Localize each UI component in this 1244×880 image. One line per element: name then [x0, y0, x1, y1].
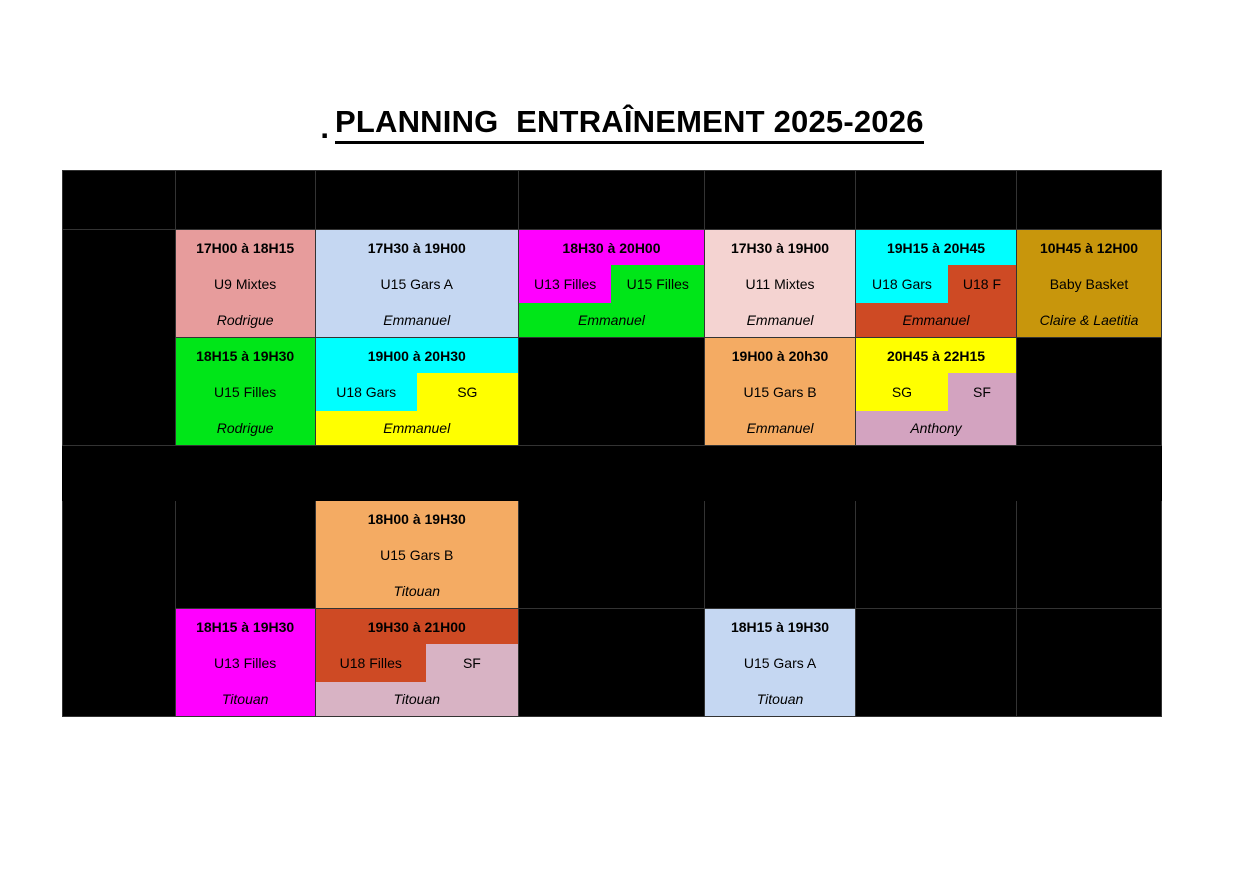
cell-guerche-row1-samedi-session: 10H45 à 12H00Baby BasketClaire & Laetiti…: [1017, 230, 1161, 337]
cell-guerche-row1-mercredi-session: 18H30 à 20H00U13 FillesU15 FillesEmmanue…: [519, 230, 704, 337]
cell-guerche-row1-mercredi-time: 18H30 à 20H00: [519, 230, 704, 265]
cell-domalain-row2-lundi-groups: U13 Filles: [176, 644, 315, 682]
cell-domalain-row2-jeudi-coach: Titouan: [705, 682, 855, 716]
cell-guerche-row1-vendredi-group-0[interactable]: U18 Gars: [856, 265, 948, 303]
table-row: 18H15 à 19H30U15 FillesRodrigue 19H00 à …: [63, 338, 1162, 446]
cell-guerche-row2-mardi-groups: U18 GarsSG: [316, 373, 518, 411]
header-day-samedi: SAMEDI: [1017, 171, 1162, 230]
header-day-jeudi: JEUDI: [705, 171, 856, 230]
cell-guerche-row2-mardi-coach: Emmanuel: [316, 411, 518, 445]
cell-guerche-row1-mardi-coach: Emmanuel: [316, 303, 518, 337]
cell-guerche-row2-vendredi-group-1[interactable]: SF: [948, 373, 1016, 411]
cell-guerche-row2-jeudi-coach: Emmanuel: [705, 411, 855, 445]
cell-domalain-row1-mardi-time: 18H00 à 19H30: [316, 501, 518, 536]
cell-domalain-row2-mardi[interactable]: 19H30 à 21H00U18 FillesSFTitouan: [315, 609, 518, 717]
cell-domalain-row2-mercredi: [518, 609, 704, 717]
cell-guerche-row1-mercredi[interactable]: 18H30 à 20H00U13 FillesU15 FillesEmmanue…: [518, 230, 704, 338]
cell-domalain-row2-lundi-group-0[interactable]: U13 Filles: [176, 644, 315, 682]
cell-guerche-row2-mardi-time: 19H00 à 20H30: [316, 338, 518, 373]
table-row: DOMALAIN 18H00 à 19H30U15 Gars BTitouan: [63, 501, 1162, 609]
cell-guerche-row1-mardi[interactable]: 17H30 à 19H00U15 Gars AEmmanuel: [315, 230, 518, 338]
cell-domalain-row1-lundi: [175, 501, 315, 609]
cell-guerche-row1-samedi-group-0[interactable]: Baby Basket: [1017, 265, 1161, 303]
cell-guerche-row1-jeudi[interactable]: 17H30 à 19H00U11 MixtesEmmanuel: [705, 230, 856, 338]
cell-guerche-row2-samedi: [1017, 338, 1162, 446]
cell-guerche-row2-lundi-session: 18H15 à 19H30U15 FillesRodrigue: [176, 338, 315, 445]
spacer-vendredi: [856, 446, 1017, 501]
cell-guerche-row1-mercredi-group-1[interactable]: U15 Filles: [611, 265, 704, 303]
cell-domalain-row2-mardi-group-0[interactable]: U18 Filles: [316, 644, 426, 682]
cell-guerche-row2-vendredi[interactable]: 20H45 à 22H15SGSFAnthony: [856, 338, 1017, 446]
cell-domalain-row2-mardi-group-1[interactable]: SF: [426, 644, 518, 682]
cell-domalain-row2-jeudi-time: 18H15 à 19H30: [705, 609, 855, 644]
cell-guerche-row1-lundi-groups: U9 Mixtes: [176, 265, 315, 303]
table-header-row: LUNDI MARDI MERCREDI JEUDI VENDREDI SAME…: [63, 171, 1162, 230]
cell-guerche-row1-mercredi-group-0[interactable]: U13 Filles: [519, 265, 612, 303]
section-spacer-row: [63, 446, 1162, 501]
spacer-mardi: [315, 446, 518, 501]
cell-guerche-row1-samedi-groups: Baby Basket: [1017, 265, 1161, 303]
spacer-mercredi: [518, 446, 704, 501]
header-corner: [63, 171, 176, 230]
cell-guerche-row1-mercredi-groups: U13 FillesU15 Filles: [519, 265, 704, 303]
cell-domalain-row2-jeudi[interactable]: 18H15 à 19H30U15 Gars ATitouan: [705, 609, 856, 717]
cell-guerche-row1-lundi-time: 17H00 à 18H15: [176, 230, 315, 265]
header-day-vendredi: VENDREDI: [856, 171, 1017, 230]
cell-domalain-row2-vendredi: [856, 609, 1017, 717]
cell-domalain-row1-mercredi: [518, 501, 704, 609]
cell-guerche-row1-jeudi-group-0[interactable]: U11 Mixtes: [705, 265, 855, 303]
cell-domalain-row2-lundi-coach: Titouan: [176, 682, 315, 716]
cell-domalain-row1-jeudi: [705, 501, 856, 609]
cell-guerche-row2-jeudi-groups: U15 Gars B: [705, 373, 855, 411]
title-bullet: .: [320, 110, 329, 146]
cell-guerche-row1-mardi-time: 17H30 à 19H00: [316, 230, 518, 265]
cell-guerche-row1-mardi-groups: U15 Gars A: [316, 265, 518, 303]
cell-guerche-row1-jeudi-groups: U11 Mixtes: [705, 265, 855, 303]
cell-guerche-row1-vendredi-groups: U18 GarsU18 F: [856, 265, 1016, 303]
venue-label-la-guerche: LA GUERCHE: [63, 230, 176, 446]
cell-guerche-row1-mardi-session: 17H30 à 19H00U15 Gars AEmmanuel: [316, 230, 518, 337]
cell-guerche-row2-mardi-group-1[interactable]: SG: [417, 373, 518, 411]
cell-guerche-row2-vendredi-session: 20H45 à 22H15SGSFAnthony: [856, 338, 1016, 445]
cell-guerche-row1-vendredi[interactable]: 19H15 à 20H45U18 GarsU18 FEmmanuel: [856, 230, 1017, 338]
cell-guerche-row1-jeudi-session: 17H30 à 19H00U11 MixtesEmmanuel: [705, 230, 855, 337]
cell-domalain-row2-jeudi-group-0[interactable]: U15 Gars A: [705, 644, 855, 682]
cell-guerche-row2-mercredi: [518, 338, 704, 446]
cell-guerche-row1-vendredi-time: 19H15 à 20H45: [856, 230, 1016, 265]
cell-guerche-row1-samedi-time: 10H45 à 12H00: [1017, 230, 1161, 265]
cell-domalain-row2-samedi: [1017, 609, 1162, 717]
cell-guerche-row2-mardi-session: 19H00 à 20H30U18 GarsSGEmmanuel: [316, 338, 518, 445]
cell-guerche-row2-vendredi-time: 20H45 à 22H15: [856, 338, 1016, 373]
cell-guerche-row1-vendredi-coach: Emmanuel: [856, 303, 1016, 337]
cell-guerche-row2-lundi[interactable]: 18H15 à 19H30U15 FillesRodrigue: [175, 338, 315, 446]
cell-guerche-row2-mardi-group-0[interactable]: U18 Gars: [316, 373, 417, 411]
header-day-lundi: LUNDI: [175, 171, 315, 230]
cell-guerche-row1-samedi[interactable]: 10H45 à 12H00Baby BasketClaire & Laetiti…: [1017, 230, 1162, 338]
cell-guerche-row2-jeudi-time: 19H00 à 20h30: [705, 338, 855, 373]
cell-guerche-row1-lundi-group-0[interactable]: U9 Mixtes: [176, 265, 315, 303]
venue-line-2: GUERCHE: [82, 339, 157, 355]
cell-guerche-row2-lundi-time: 18H15 à 19H30: [176, 338, 315, 373]
cell-domalain-row1-mardi-group-0[interactable]: U15 Gars B: [316, 536, 518, 574]
cell-guerche-row2-lundi-groups: U15 Filles: [176, 373, 315, 411]
cell-guerche-row1-jeudi-coach: Emmanuel: [705, 303, 855, 337]
cell-guerche-row2-vendredi-coach: Anthony: [856, 411, 1016, 445]
spacer-samedi: [1017, 446, 1162, 501]
venue-line-1: LA: [109, 319, 129, 335]
planning-page: .PLANNING ENTRAÎNEMENT 2025-2026 LUNDI M…: [0, 0, 1244, 880]
cell-guerche-row1-mardi-group-0[interactable]: U15 Gars A: [316, 265, 518, 303]
cell-guerche-row2-vendredi-group-0[interactable]: SG: [856, 373, 948, 411]
cell-domalain-row1-samedi: [1017, 501, 1162, 609]
cell-guerche-row1-mercredi-coach: Emmanuel: [519, 303, 704, 337]
title-text: PLANNING ENTRAÎNEMENT 2025-2026: [335, 104, 924, 144]
cell-domalain-row1-mardi-session: 18H00 à 19H30U15 Gars BTitouan: [316, 501, 518, 608]
page-title: .PLANNING ENTRAÎNEMENT 2025-2026: [0, 104, 1244, 146]
cell-guerche-row1-samedi-coach: Claire & Laetitia: [1017, 303, 1161, 337]
cell-guerche-row1-lundi[interactable]: 17H00 à 18H15U9 MixtesRodrigue: [175, 230, 315, 338]
cell-domalain-row1-vendredi: [856, 501, 1017, 609]
cell-guerche-row1-vendredi-group-1[interactable]: U18 F: [948, 265, 1016, 303]
table-row: LA GUERCHE 17H00 à 18H15U9 MixtesRodrigu…: [63, 230, 1162, 338]
cell-guerche-row2-jeudi-session: 19H00 à 20h30U15 Gars BEmmanuel: [705, 338, 855, 445]
header-day-mercredi: MERCREDI: [518, 171, 704, 230]
spacer-jeudi: [705, 446, 856, 501]
cell-domalain-row2-jeudi-session: 18H15 à 19H30U15 Gars ATitouan: [705, 609, 855, 716]
cell-domalain-row2-mardi-coach: Titouan: [316, 682, 518, 716]
cell-domalain-row2-lundi[interactable]: 18H15 à 19H30U13 FillesTitouan: [175, 609, 315, 717]
cell-domalain-row1-mardi[interactable]: 18H00 à 19H30U15 Gars BTitouan: [315, 501, 518, 609]
cell-guerche-row2-mardi[interactable]: 19H00 à 20H30U18 GarsSGEmmanuel: [315, 338, 518, 446]
venue-label-domalain: DOMALAIN: [63, 501, 176, 717]
cell-guerche-row1-jeudi-time: 17H30 à 19H00: [705, 230, 855, 265]
cell-guerche-row1-lundi-session: 17H00 à 18H15U9 MixtesRodrigue: [176, 230, 315, 337]
cell-domalain-row2-lundi-session: 18H15 à 19H30U13 FillesTitouan: [176, 609, 315, 716]
cell-domalain-row2-mardi-time: 19H30 à 21H00: [316, 609, 518, 644]
cell-domalain-row1-mardi-coach: Titouan: [316, 574, 518, 608]
cell-domalain-row2-mardi-session: 19H30 à 21H00U18 FillesSFTitouan: [316, 609, 518, 716]
cell-guerche-row2-jeudi-group-0[interactable]: U15 Gars B: [705, 373, 855, 411]
cell-domalain-row2-mardi-groups: U18 FillesSF: [316, 644, 518, 682]
spacer-label: [63, 446, 176, 501]
training-schedule-table: LUNDI MARDI MERCREDI JEUDI VENDREDI SAME…: [62, 170, 1162, 717]
cell-guerche-row1-vendredi-session: 19H15 à 20H45U18 GarsU18 FEmmanuel: [856, 230, 1016, 337]
table-row: 18H15 à 19H30U13 FillesTitouan 19H30 à 2…: [63, 609, 1162, 717]
cell-domalain-row2-lundi-time: 18H15 à 19H30: [176, 609, 315, 644]
cell-guerche-row1-lundi-coach: Rodrigue: [176, 303, 315, 337]
cell-domalain-row1-mardi-groups: U15 Gars B: [316, 536, 518, 574]
cell-guerche-row2-lundi-coach: Rodrigue: [176, 411, 315, 445]
spacer-lundi: [175, 446, 315, 501]
cell-guerche-row2-lundi-group-0[interactable]: U15 Filles: [176, 373, 315, 411]
header-day-mardi: MARDI: [315, 171, 518, 230]
cell-guerche-row2-vendredi-groups: SGSF: [856, 373, 1016, 411]
cell-guerche-row2-jeudi[interactable]: 19H00 à 20h30U15 Gars BEmmanuel: [705, 338, 856, 446]
cell-domalain-row2-jeudi-groups: U15 Gars A: [705, 644, 855, 682]
